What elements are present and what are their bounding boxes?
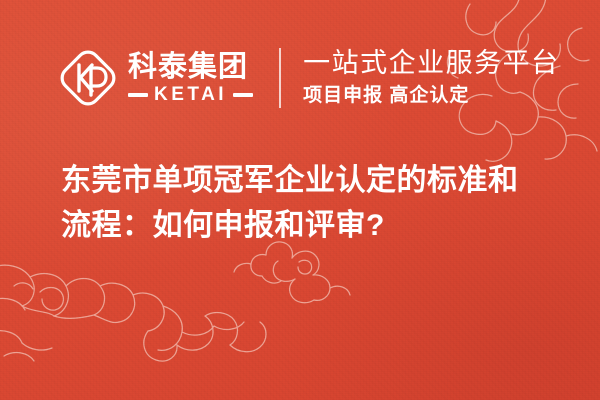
wordmark-left-rule [128, 93, 148, 97]
slogan-sub-text: 项目申报 高企认定 [303, 83, 560, 109]
brand-name-latin: KETAI [154, 85, 227, 105]
brand-name-cn: 科泰集团 [128, 51, 253, 83]
banner-header: 科泰集团 KETAI 一站式企业服务平台 项目申报 高企认定 [58, 42, 560, 114]
wordmark-right-rule [233, 93, 253, 97]
promo-banner: 科泰集团 KETAI 一站式企业服务平台 项目申报 高企认定 东莞市单项冠军企业… [0, 0, 600, 400]
brand-name-latin-row: KETAI [128, 85, 253, 105]
slogan-block: 一站式企业服务平台 项目申报 高企认定 [303, 47, 560, 109]
slogan-main-text: 一站式企业服务平台 [303, 47, 560, 80]
header-divider [279, 48, 281, 108]
brand-wordmark: 科泰集团 KETAI [128, 51, 253, 105]
ketai-logo-icon [58, 48, 118, 108]
banner-title: 东莞市单项冠军企业认定的标准和 流程：如何申报和评审? [61, 158, 551, 248]
title-line-2: 流程：如何申报和评审? [61, 203, 551, 248]
title-line-1: 东莞市单项冠军企业认定的标准和 [61, 158, 551, 203]
